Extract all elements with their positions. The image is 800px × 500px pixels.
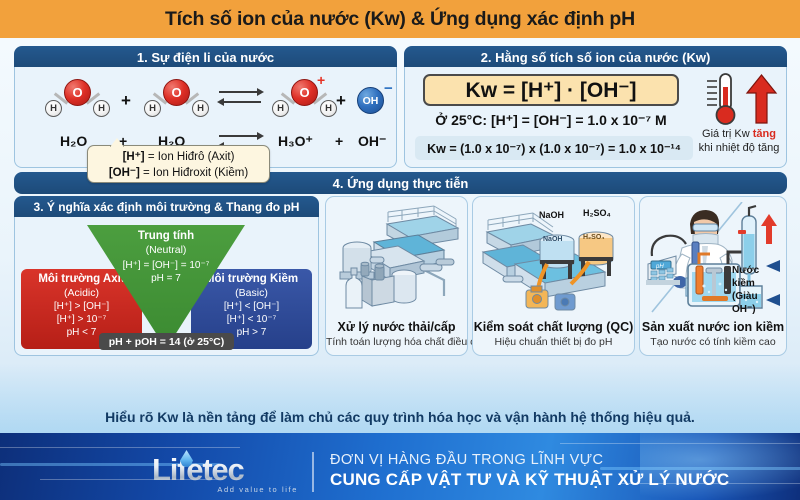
formula-h2o-left: H₂O	[60, 133, 87, 149]
hydroxide-ion: OH	[357, 87, 384, 114]
oxygen-atom: O	[64, 79, 91, 106]
hydrogen-atom: H	[320, 100, 337, 117]
callout-val-h: = Ion Hiđrô (Axit)	[145, 151, 235, 163]
app-card-3-caption: Sản xuất nước ion kiềm Tạo nước có tính …	[640, 319, 786, 349]
positive-charge-label: +	[317, 72, 325, 88]
footer-line-2: CUNG CẤP VẬT TƯ VÀ KỸ THUẬT XỬ LÝ NƯỚC	[330, 470, 729, 490]
app-card-quality-control: NaOH H₂SO₄ NaOH H₂SO₄ Kiểm soát chất lượ…	[472, 196, 635, 356]
base-line-1: [H⁺] < [OH⁻]	[191, 300, 312, 313]
plus-operator: +	[121, 91, 131, 111]
brand-logo: Lifetec Add value to life	[152, 452, 300, 496]
neutral-title: Trung tính	[87, 230, 245, 244]
alkaline-water-annotation: Nước kiềm (Giàu OH⁻)	[732, 264, 780, 314]
base-subtitle: (Basic)	[191, 287, 312, 300]
brand-name: Lifetec	[152, 452, 300, 488]
callout-key-h: [H⁺]	[123, 151, 145, 163]
equilibrium-arrows-icon	[217, 89, 263, 107]
callout-line-2: [OH⁻] = Ion Hiđroxit (Kiềm)	[88, 165, 269, 181]
panel3-body: Môi trường Axit (Acidic) [H⁺] > [OH⁻] [H…	[14, 217, 319, 356]
app-card-1-title: Xử lý nước thải/cấp	[326, 319, 467, 335]
base-line-2: [H⁺] < 10⁻⁷	[191, 313, 312, 326]
oxygen-atom: O	[163, 79, 190, 106]
callout-key-oh: [OH⁻]	[109, 167, 140, 179]
brand-slogan: Add value to life	[217, 485, 298, 494]
negative-charge-label: −	[384, 80, 393, 97]
ion-definition-callout: [H⁺] = Ion Hiđrô (Axit) [OH⁻] = Ion Hiđr…	[87, 145, 270, 183]
footer-divider	[312, 452, 314, 492]
callout-val-oh: = Ion Hiđroxit (Kiềm)	[140, 167, 248, 179]
temperature-illustration: Giá trị Kw tăng khi nhiệt độ tăng	[693, 71, 785, 166]
kw-at-25c: Ở 25°C: [H⁺] = [OH⁻] = 1.0 x 10⁻⁷ M	[415, 112, 687, 129]
app-card-alkaline-water: pH	[639, 196, 787, 356]
plus-operator: +	[336, 91, 346, 111]
qc-illustration: NaOH H₂SO₄ NaOH H₂SO₄	[479, 202, 628, 314]
summary-tagline: Hiểu rõ Kw là nền tảng để làm chủ các qu…	[0, 409, 800, 425]
tank-label-h2so4: H₂SO₄	[583, 234, 605, 241]
hydrogen-atom: H	[192, 100, 209, 117]
hydrogen-atom: H	[144, 100, 161, 117]
ph-diagram: Môi trường Axit (Acidic) [H⁺] > [OH⁻] [H…	[15, 217, 318, 355]
thermometer-icon	[693, 71, 785, 129]
kw-calculation: Kw = (1.0 x 10⁻⁷) x (1.0 x 10⁻⁷) = 1.0 x…	[415, 136, 693, 160]
panel-kw-constant: 2. Hằng số tích số ion của nước (Kw) Kw …	[404, 46, 787, 168]
infographic-root: Tích số ion của nước (Kw) & Ứng dụng xác…	[0, 0, 800, 500]
app-card-water-treatment: Xử lý nước thải/cấp Tính toán lượng hóa …	[325, 196, 468, 356]
chemical-label-naoh: NaOH	[539, 210, 564, 220]
oxygen-atom: O	[291, 79, 318, 106]
svg-text:pH: pH	[655, 264, 664, 270]
anno-line-1: Nước kiềm	[732, 264, 780, 290]
kw-formula-box: Kw = [H⁺] · [OH⁻]	[423, 74, 679, 106]
app-card-2-title: Kiểm soát chất lượng (QC)	[473, 319, 634, 335]
thermo-caption-line2: khi nhiệt độ tăng	[693, 141, 785, 155]
hydrogen-atom: H	[45, 100, 62, 117]
thermo-caption-line1: Giá trị Kw tăng	[693, 127, 785, 141]
water-treatment-illustration	[332, 202, 461, 314]
footer-line-1: ĐƠN VỊ HÀNG ĐẦU TRONG LĨNH VỰC	[330, 452, 603, 468]
neutral-subtitle: (Neutral)	[87, 244, 245, 257]
acid-subtitle: (Acidic)	[21, 287, 142, 300]
page-title: Tích số ion của nước (Kw) & Ứng dụng xác…	[165, 8, 635, 31]
hydrogen-atom: H	[93, 100, 110, 117]
acid-line-2: [H⁺] > 10⁻⁷	[21, 313, 142, 326]
app-card-3-subtitle: Tạo nước có tính kiềm cao	[640, 335, 786, 349]
app-card-3-title: Sản xuất nước ion kiềm	[640, 319, 786, 335]
app-card-1-caption: Xử lý nước thải/cấp Tính toán lượng hóa …	[326, 319, 467, 349]
anno-line-2: (Giàu OH⁻)	[732, 290, 780, 314]
panel3-header: 3. Ý nghĩa xác định môi trường & Thang đ…	[14, 196, 319, 218]
panel-ph-scale: 3. Ý nghĩa xác định môi trường & Thang đ…	[14, 196, 319, 356]
panel1-header: 1. Sự điện li của nước	[14, 46, 397, 68]
ph-poh-sum-badge: pH + pOH = 14 (ở 25°C)	[99, 333, 234, 350]
panel2-header: 2. Hằng số tích số ion của nước (Kw)	[404, 46, 787, 68]
app-card-2-caption: Kiểm soát chất lượng (QC) Hiệu chuẩn thi…	[473, 319, 634, 349]
app-card-1-subtitle: Tính toán lượng hóa chất điều chỉnh pH	[326, 335, 467, 349]
tank-label-naoh: NaOH	[543, 236, 562, 243]
temperature-caption: Giá trị Kw tăng khi nhiệt độ tăng	[693, 127, 785, 155]
treatment-plant-icon	[332, 202, 461, 314]
callout-line-1: [H⁺] = Ion Hiđrô (Axit)	[88, 149, 269, 165]
formula-h3o-plus: H₃O⁺	[278, 133, 313, 150]
page-title-bar: Tích số ion của nước (Kw) & Ứng dụng xác…	[0, 0, 800, 38]
acid-line-1: [H⁺] > [OH⁻]	[21, 300, 142, 313]
hydrogen-atom: H	[272, 100, 289, 117]
formula-oh-minus: OH⁻	[358, 133, 386, 150]
thermo-caption-a: Giá trị Kw	[702, 128, 753, 140]
app-card-2-subtitle: Hiệu chuẩn thiết bị đo pH	[473, 335, 634, 349]
thermo-caption-highlight: tăng	[753, 128, 776, 140]
chemical-label-h2so4: H₂SO₄	[583, 208, 611, 218]
panel2-body: Kw = [H⁺] · [OH⁻] Ở 25°C: [H⁺] = [OH⁻] =…	[404, 67, 787, 168]
alkaline-water-illustration: pH	[646, 202, 780, 314]
formula-plus-2: +	[335, 133, 343, 149]
